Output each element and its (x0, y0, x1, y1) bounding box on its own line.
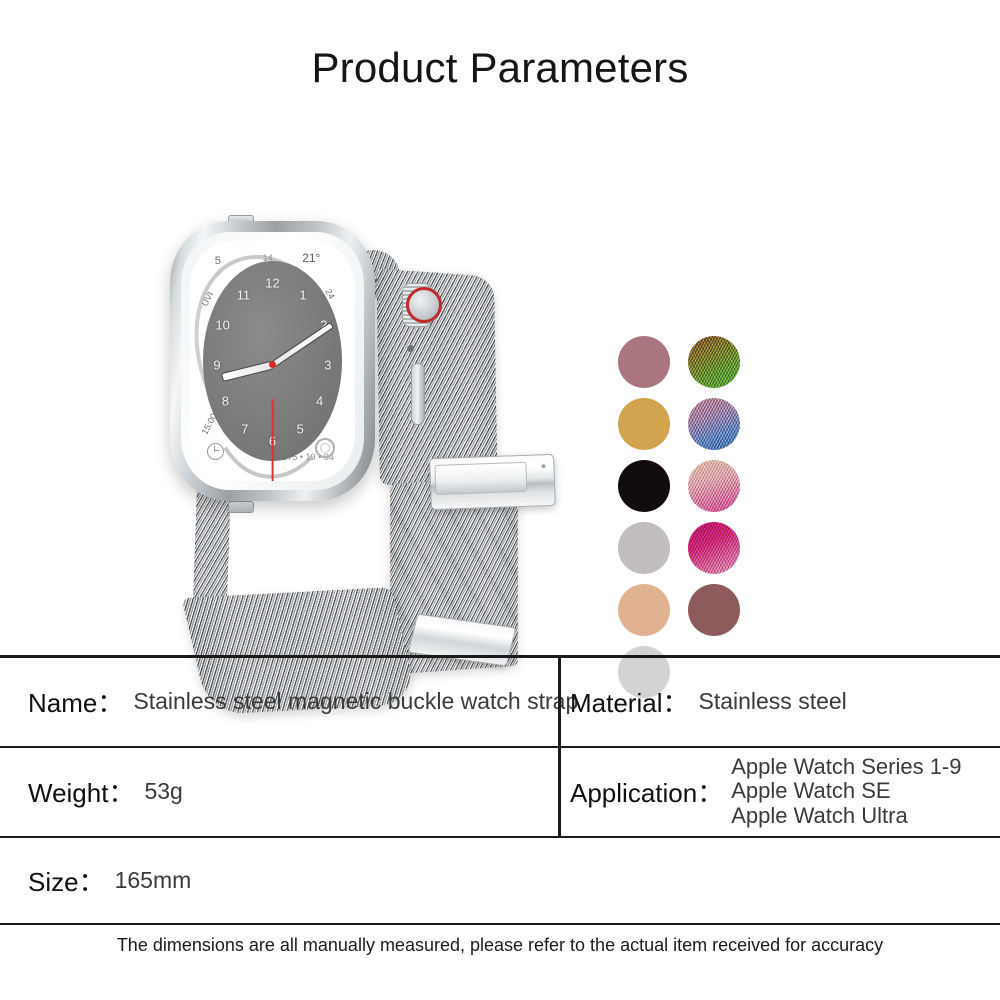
digital-crown-cap (406, 287, 442, 323)
value-weight: 53g (144, 778, 182, 805)
spec-table: Name： Stainless steel magnetic buckle wa… (0, 655, 1000, 925)
value-material: Stainless steel (698, 688, 846, 715)
complication-uv-value: 5 (215, 255, 221, 267)
numeral-7: 7 (241, 421, 248, 436)
swatch-magenta-mesh[interactable] (688, 522, 740, 574)
numeral-11: 11 (237, 288, 251, 303)
table-row-size: Size： 165mm (0, 838, 1000, 923)
page-title: Product Parameters (0, 44, 1000, 92)
table-bottom-border (0, 923, 1000, 926)
label-application: Application： (570, 773, 723, 810)
swatch-sand-beige[interactable] (618, 584, 670, 636)
cell-application: Application： Apple Watch Series 1-9 Appl… (558, 748, 1000, 836)
swatch-gold[interactable] (618, 398, 670, 450)
swatch-rosewood[interactable] (688, 584, 740, 636)
swatch-rose-blue-mesh[interactable] (688, 398, 740, 450)
swatch-mauve-rose[interactable] (618, 336, 670, 388)
numeral-1: 1 (299, 288, 306, 303)
cell-name: Name： Stainless steel magnetic buckle wa… (0, 658, 558, 746)
clasp-lip (434, 462, 527, 495)
swatch-olive-green-mesh[interactable] (688, 336, 740, 388)
table-row-name-material: Name： Stainless steel magnetic buckle wa… (0, 658, 1000, 746)
hands-pivot (269, 361, 276, 368)
cell-size: Size： 165mm (0, 838, 558, 923)
product-parameters-page: Product Parameters 5 (0, 0, 1000, 1000)
label-name: Name： (28, 683, 123, 720)
value-name: Stainless steel magnetic buckle watch st… (133, 688, 578, 715)
numeral-8: 8 (222, 393, 229, 408)
watch-lug-bottom (228, 501, 254, 513)
swatch-light-gray[interactable] (618, 522, 670, 574)
watch-face-dial: 12 1 2 3 4 5 6 7 8 9 10 11 (203, 261, 342, 460)
numeral-4: 4 (316, 393, 323, 408)
table-row-weight-application: Weight： 53g Application： Apple Watch Ser… (0, 748, 1000, 836)
numeral-9: 9 (213, 357, 220, 372)
timer-icon (207, 443, 224, 460)
cell-weight: Weight： 53g (0, 748, 558, 836)
label-weight: Weight： (28, 773, 134, 810)
measurement-disclaimer: The dimensions are all manually measured… (0, 935, 1000, 956)
swatch-beige-pink-mesh[interactable] (688, 460, 740, 512)
watch-case: 5 UVI 14 21° 24 15:00 375 • 19 • 04 12 1… (170, 221, 375, 501)
swatch-row (618, 336, 758, 388)
numeral-3: 3 (324, 357, 331, 372)
second-hand (272, 399, 274, 481)
microphone-dot-icon (407, 345, 414, 352)
side-button (411, 363, 425, 425)
label-material: Material： (570, 683, 688, 720)
application-item-2: Apple Watch SE (731, 779, 961, 804)
cell-material: Material： Stainless steel (558, 658, 1000, 746)
value-application-list: Apple Watch Series 1-9 Apple Watch SE Ap… (731, 755, 961, 829)
value-size: 165mm (115, 867, 192, 894)
swatch-row (618, 398, 758, 450)
watch-screen: 5 UVI 14 21° 24 15:00 375 • 19 • 04 12 1… (190, 241, 355, 481)
numeral-10: 10 (215, 318, 229, 333)
hour-hand (221, 361, 274, 382)
magnetic-buckle-clasp (429, 454, 556, 510)
numeral-12: 12 (265, 276, 279, 291)
color-swatch-grid (618, 336, 758, 708)
product-hero-image: 5 UVI 14 21° 24 15:00 375 • 19 • 04 12 1… (0, 120, 1000, 645)
swatch-row (618, 460, 758, 512)
application-item-1: Apple Watch Series 1-9 (731, 755, 961, 780)
swatch-row (618, 584, 758, 636)
clasp-pin-dot (541, 464, 545, 468)
application-item-3: Apple Watch Ultra (731, 804, 961, 829)
swatch-row (618, 522, 758, 574)
numeral-5: 5 (297, 421, 304, 436)
watch-bezel: 5 UVI 14 21° 24 15:00 375 • 19 • 04 12 1… (181, 232, 364, 490)
swatch-black[interactable] (618, 460, 670, 512)
label-size: Size： (28, 862, 105, 899)
complication-temperature: 21° (302, 251, 320, 265)
apple-watch-product: 5 UVI 14 21° 24 15:00 375 • 19 • 04 12 1… (150, 205, 420, 535)
